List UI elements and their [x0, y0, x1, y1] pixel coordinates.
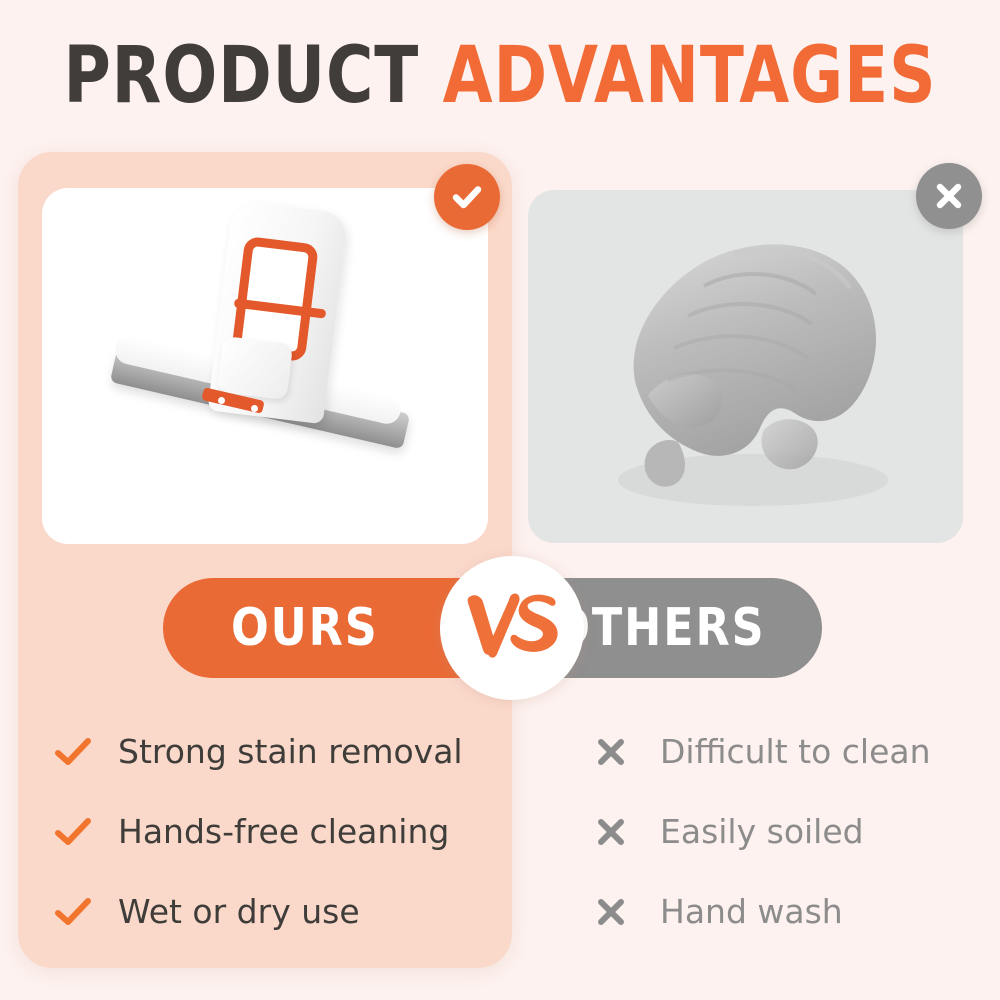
- product-squeegee-illustration: [42, 188, 488, 544]
- x-icon: [932, 179, 966, 213]
- list-item: Easily soiled: [588, 792, 968, 872]
- others-feature-list: Difficult to clean Easily soiled Hand wa…: [588, 712, 968, 952]
- list-item: Difficult to clean: [588, 712, 968, 792]
- check-icon: [50, 817, 96, 847]
- vs-comparison-band: OTHERS OURS: [0, 578, 1000, 678]
- list-item: Hand wash: [588, 872, 968, 952]
- cross-circle-badge: [916, 163, 982, 229]
- ours-product-card: [42, 188, 488, 544]
- title-part-accent: ADVANTAGES: [443, 31, 937, 121]
- list-item: Wet or dry use: [50, 872, 500, 952]
- squeegee-hub: [217, 336, 293, 400]
- towel-illustration: [528, 190, 963, 543]
- x-icon: [588, 737, 634, 767]
- check-icon: [50, 737, 96, 767]
- others-product-card: [528, 190, 963, 543]
- others-pill-label: OTHERS: [553, 598, 766, 658]
- title-part-dark: PRODUCT: [63, 31, 419, 121]
- x-icon: [588, 897, 634, 927]
- squeegee-rivet: [251, 405, 258, 412]
- check-icon: [449, 179, 485, 215]
- list-item: Hands-free cleaning: [50, 792, 500, 872]
- page-title: PRODUCT ADVANTAGES: [40, 33, 960, 119]
- check-icon: [50, 897, 96, 927]
- ours-pill-label: OURS: [231, 598, 379, 658]
- infographic-page: PRODUCT ADVANTAGES: [0, 0, 1000, 1000]
- x-icon: [588, 817, 634, 847]
- vs-circle: [440, 556, 584, 700]
- drawback-label: Hand wash: [660, 893, 843, 931]
- crumpled-towel-graphic: [528, 190, 963, 543]
- drawback-label: Easily soiled: [660, 813, 864, 851]
- check-circle-badge: [434, 164, 500, 230]
- drawback-label: Difficult to clean: [660, 733, 931, 771]
- vs-brush-script-icon: [457, 580, 567, 676]
- squeegee-rivet: [218, 397, 225, 404]
- ours-feature-list: Strong stain removal Hands-free cleaning…: [50, 712, 500, 952]
- feature-label: Wet or dry use: [118, 893, 360, 931]
- feature-label: Strong stain removal: [118, 733, 463, 771]
- feature-label: Hands-free cleaning: [118, 813, 449, 851]
- list-item: Strong stain removal: [50, 712, 500, 792]
